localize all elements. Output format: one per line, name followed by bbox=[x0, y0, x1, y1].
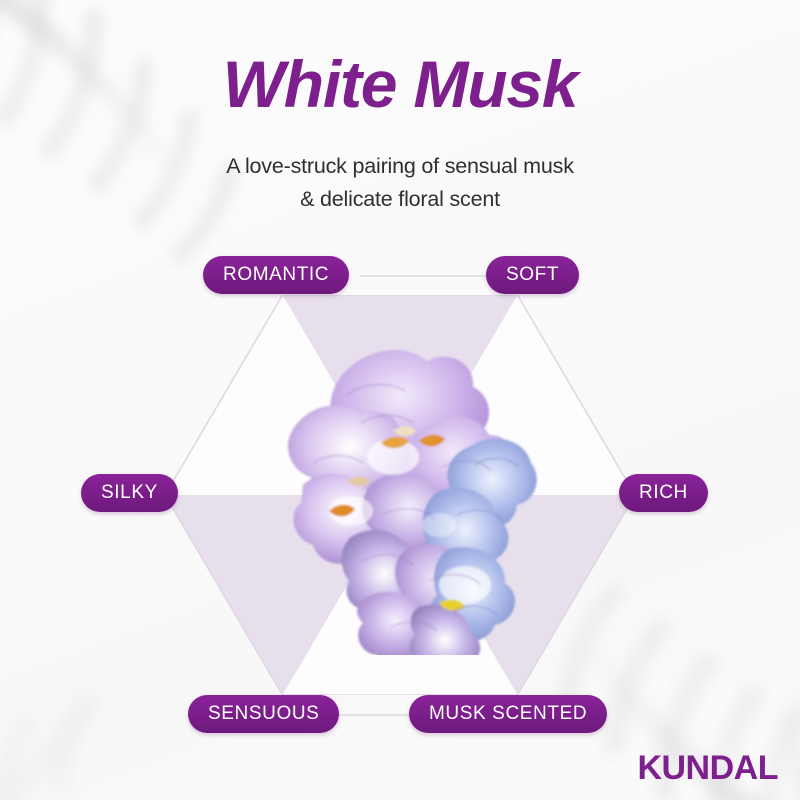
attribute-pill-romantic[interactable]: ROMANTIC bbox=[203, 256, 349, 294]
attribute-pill-silky[interactable]: SILKY bbox=[81, 474, 178, 512]
promo-canvas: White Musk A love-struck pairing of sens… bbox=[0, 0, 800, 800]
page-title: White Musk bbox=[0, 50, 800, 119]
attribute-pill-rich-label: RICH bbox=[639, 482, 688, 504]
connector-line-top bbox=[360, 275, 488, 277]
subtitle-line-1: A love-struck pairing of sensual musk bbox=[0, 150, 800, 183]
attribute-pill-soft-label: SOFT bbox=[506, 264, 559, 286]
attribute-pill-sensuous-label: SENSUOUS bbox=[208, 703, 319, 725]
connector-line-bottom bbox=[338, 714, 410, 716]
subtitle-line-2: & delicate floral scent bbox=[0, 183, 800, 216]
attribute-pill-rich[interactable]: RICH bbox=[619, 474, 708, 512]
brand-logo: KUNDAL bbox=[637, 749, 778, 788]
attribute-pill-sensuous[interactable]: SENSUOUS bbox=[188, 695, 339, 733]
attribute-pill-romantic-label: ROMANTIC bbox=[223, 264, 329, 286]
attribute-pill-silky-label: SILKY bbox=[101, 482, 158, 504]
page-subtitle: A love-struck pairing of sensual musk & … bbox=[0, 150, 800, 217]
attribute-pill-musk-scented-label: MUSK SCENTED bbox=[429, 703, 587, 725]
iris-flower-cluster-image bbox=[243, 335, 538, 655]
palm-leaf-shadow-bottom-left-icon bbox=[0, 610, 190, 800]
attribute-pill-musk-scented[interactable]: MUSK SCENTED bbox=[409, 695, 607, 733]
attribute-pill-soft[interactable]: SOFT bbox=[486, 256, 579, 294]
